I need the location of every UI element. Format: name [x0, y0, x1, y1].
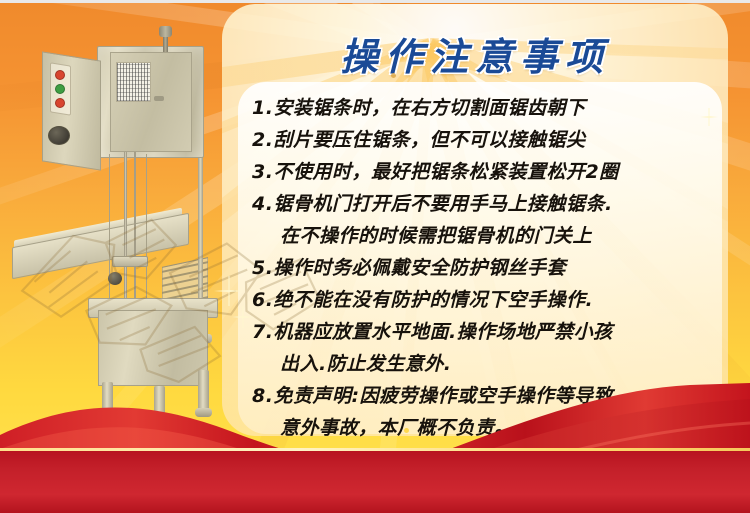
bottom-red-band — [0, 451, 750, 513]
title-decoration-dot — [391, 73, 396, 78]
note-line: 7.机器应放置水平地面.操作场地严禁小孩 — [252, 316, 722, 348]
machine-base-cabinet — [98, 310, 208, 386]
machine-door-handle — [154, 96, 164, 101]
poster-canvas: 操作注意事项 1.安装锯条时，在右方切割面锯齿朝下 2.刮片要压住锯条，但不可以… — [0, 0, 750, 513]
note-line: 在不操作的时候需把锯骨机的门关上 — [252, 220, 722, 252]
note-line: 6.绝不能在没有防护的情况下空手操作. — [252, 284, 722, 316]
machine-tension-rod — [163, 36, 168, 52]
machine-spec-label-sticker — [116, 62, 151, 102]
machine-blade-guide-block — [112, 256, 148, 267]
note-line: 3.不使用时，最好把锯条松紧装置松开2圈 — [252, 156, 722, 188]
top-border-rule — [0, 0, 750, 3]
machine-selector-dial — [48, 126, 70, 145]
note-line: 5.操作时务必佩戴安全防护钢丝手套 — [252, 252, 722, 284]
bone-saw-machine-image — [12, 34, 222, 424]
note-line: 4.锯骨机门打开后不要用手马上接触锯条. — [252, 188, 722, 220]
machine-start-button — [55, 84, 65, 94]
note-line: 2.刮片要压住锯条，但不可以接触锯尖 — [252, 124, 722, 156]
note-line: 1.安装锯条时，在右方切割面锯齿朝下 — [252, 92, 722, 124]
page-title: 操作注意事项 — [222, 26, 728, 81]
machine-emergency-button — [55, 98, 65, 108]
note-line: 出入.防止发生意外. — [252, 348, 722, 380]
machine-stop-button — [55, 70, 65, 80]
gold-accent-line — [0, 448, 750, 451]
machine-guide-knob — [108, 272, 122, 285]
machine-tension-knob — [159, 26, 172, 37]
